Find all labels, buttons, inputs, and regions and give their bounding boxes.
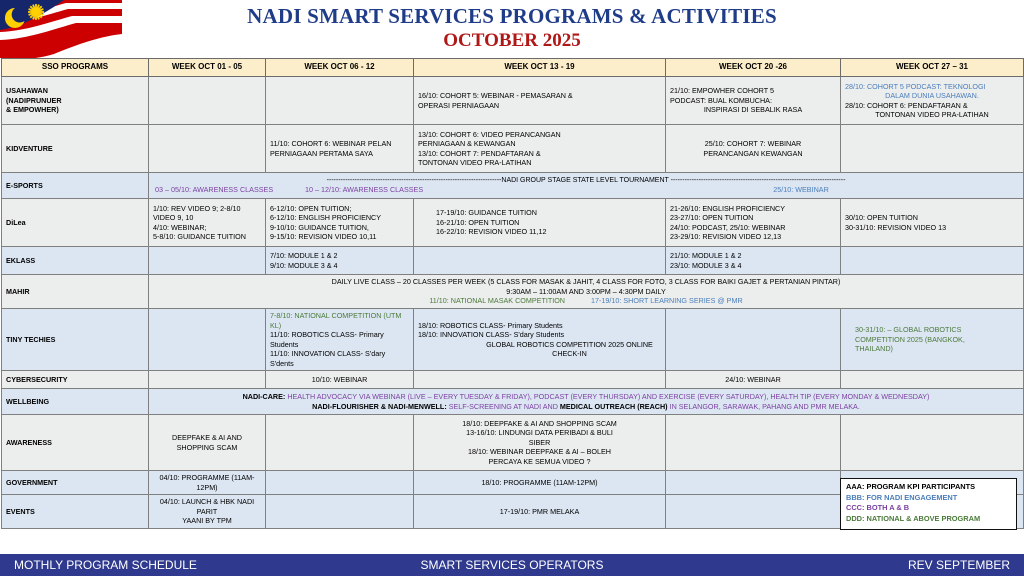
cell-tiny-w1 — [149, 309, 266, 371]
cell-tiny-w4 — [666, 309, 841, 371]
table-row-kidventure: KIDVENTURE 11/10: COHORT 6: WEBINAR PELA… — [2, 125, 1024, 173]
page-title: NADI SMART SERVICES PROGRAMS & ACTIVITIE… — [247, 5, 777, 28]
row-label-eklass: EKLASS — [2, 247, 149, 275]
table-header-row: SSO PROGRAMS WEEK OCT 01 - 05 WEEK OCT 0… — [2, 59, 1024, 77]
cell-gov-w1: 04/10: PROGRAMME (11AM-12PM) — [149, 471, 266, 495]
legend-item-bbb: BBB: FOR NADI ENGAGEMENT — [846, 493, 1011, 504]
cell-awareness-w1: DEEPFAKE & AI AND SHOPPING SCAM — [149, 415, 266, 471]
cell-eklass-w5 — [841, 247, 1024, 275]
cell-kidventure-w1 — [149, 125, 266, 173]
table-row-tiny-techies: TINY TECHIES 7-8/10: NATIONAL COMPETITIO… — [2, 309, 1024, 371]
cell-awareness-w3: 18/10: DEEPFAKE & AI AND SHOPPING SCAM 1… — [414, 415, 666, 471]
cell-gov-w3: 18/10: PROGRAMME (11AM-12PM) — [414, 471, 666, 495]
page-footer: MOTHLY PROGRAM SCHEDULE SMART SERVICES O… — [0, 554, 1024, 576]
row-label-tiny-techies: TINY TECHIES — [2, 309, 149, 371]
legend-box: AAA: PROGRAM KPI PARTICIPANTS BBB: FOR N… — [840, 478, 1017, 530]
mahir-line-3a: 11/10: NATIONAL MASAK COMPETITION — [429, 296, 565, 305]
cell-usahawan-w5: 28/10: COHORT 5 PODCAST: TEKNOLOGI DALAM… — [841, 77, 1024, 125]
cell-usahawan-w3: 16/10: COHORT 5: WEBINAR - PEMASARAN & O… — [414, 77, 666, 125]
esports-banner: ----------------------------------------… — [155, 176, 1017, 185]
cell-kidventure-w5 — [841, 125, 1024, 173]
wellbeing-text-3: IN SELANGOR, SARAWAK, PAHANG AND PMR MEL… — [670, 402, 860, 411]
cell-usahawan-w1 — [149, 77, 266, 125]
cell-cyber-w3 — [414, 371, 666, 389]
cell-cyber-w2: 10/10: WEBINAR — [266, 371, 414, 389]
row-label-mahir: MAHIR — [2, 275, 149, 309]
cell-dilea-w5: 30/10: OPEN TUITION 30-31/10: REVISION V… — [841, 199, 1024, 247]
cell-kidventure-w3: 13/10: COHORT 6: VIDEO PERANCANGAN PERNI… — [414, 125, 666, 173]
cell-events-w4 — [666, 495, 841, 529]
table-row-usahawan: USAHAWAN (NADIPRUNUER & EMPOWHER) 16/10:… — [2, 77, 1024, 125]
cell-eklass-w2: 7/10: MODULE 1 & 2 9/10: MODULE 3 & 4 — [266, 247, 414, 275]
schedule-table: SSO PROGRAMS WEEK OCT 01 - 05 WEEK OCT 0… — [1, 58, 1024, 529]
cell-events-w2 — [266, 495, 414, 529]
cell-events-w1: 04/10: LAUNCH & HBK NADI PARIT YAANI BY … — [149, 495, 266, 529]
mahir-line-1: DAILY LIVE CLASS – 20 CLASSES PER WEEK (… — [153, 277, 1019, 287]
cell-tiny-w3: 18/10: ROBOTICS CLASS- Primary Students … — [414, 309, 666, 371]
footer-middle: SMART SERVICES OPERATORS — [0, 558, 1024, 572]
legend-item-aaa: AAA: PROGRAM KPI PARTICIPANTS — [846, 482, 1011, 493]
cell-eklass-w4: 21/10: MODULE 1 & 2 23/10: MODULE 3 & 4 — [666, 247, 841, 275]
mahir-line-3b: 17-19/10: SHORT LEARNING SERIES @ PMR — [591, 296, 743, 305]
legend-item-ccc: CCC: BOTH A & B — [846, 503, 1011, 514]
page-header: NADI SMART SERVICES PROGRAMS & ACTIVITIE… — [0, 0, 1024, 58]
cell-events-w3: 17-19/10: PMR MELAKA — [414, 495, 666, 529]
cell-tiny-w5: 30-31/10: – GLOBAL ROBOTICS COMPETITION … — [841, 309, 1024, 371]
table-row-awareness: AWARENESS DEEPFAKE & AI AND SHOPPING SCA… — [2, 415, 1024, 471]
cell-cyber-w5 — [841, 371, 1024, 389]
column-header-week2: WEEK OCT 06 - 12 — [266, 59, 414, 77]
wellbeing-text-1: HEALTH ADVOCACY VIA WEBINAR (LIVE – EVER… — [287, 392, 929, 401]
cell-tiny-w2: 7-8/10: NATIONAL COMPETITION (UTM KL) 11… — [266, 309, 414, 371]
cell-dilea-w1: 1/10: REV VIDEO 9; 2-8/10 VIDEO 9, 10 4/… — [149, 199, 266, 247]
row-label-cybersecurity: CYBERSECURITY — [2, 371, 149, 389]
table-row-esports: E-SPORTS -------------------------------… — [2, 173, 1024, 199]
cell-usahawan-w4: 21/10: EMPOWHER COHORT 5 PODCAST: BUAL K… — [666, 77, 841, 125]
esports-item-2: 10 – 12/10: AWARENESS CLASSES — [305, 185, 585, 195]
legend-item-ddd: DDD: NATIONAL & ABOVE PROGRAM — [846, 514, 1011, 525]
wellbeing-text-2: SELF-SCREENING AT NADI AND — [449, 402, 558, 411]
cell-dilea-w4: 21-26/10: ENGLISH PROFICIENCY 23-27/10: … — [666, 199, 841, 247]
cell-awareness-w4 — [666, 415, 841, 471]
cell-eklass-w1 — [149, 247, 266, 275]
table-row-mahir: MAHIR DAILY LIVE CLASS – 20 CLASSES PER … — [2, 275, 1024, 309]
column-header-week3: WEEK OCT 13 - 19 — [414, 59, 666, 77]
cell-gov-w2 — [266, 471, 414, 495]
row-label-government: GOVERNMENT — [2, 471, 149, 495]
cell-mahir-span: DAILY LIVE CLASS – 20 CLASSES PER WEEK (… — [149, 275, 1024, 309]
cell-dilea-w2: 6-12/10: OPEN TUITION; 6-12/10: ENGLISH … — [266, 199, 414, 247]
row-label-awareness: AWARENESS — [2, 415, 149, 471]
wellbeing-label-1: NADI-CARE: — [243, 392, 286, 401]
cell-awareness-w2 — [266, 415, 414, 471]
wellbeing-label-3: MEDICAL OUTREACH (REACH) — [560, 402, 668, 411]
cell-cyber-w4: 24/10: WEBINAR — [666, 371, 841, 389]
schedule-poster: NADI SMART SERVICES PROGRAMS & ACTIVITIE… — [0, 0, 1024, 576]
wellbeing-label-2: NADI-FLOURISHER & NADI-MENWELL: — [312, 402, 447, 411]
mahir-line-2: 9:30AM – 11:00AM AND 3:00PM – 4:30PM DAI… — [153, 287, 1019, 297]
cell-usahawan-w2 — [266, 77, 414, 125]
column-header-week1: WEEK OCT 01 - 05 — [149, 59, 266, 77]
row-label-usahawan: USAHAWAN (NADIPRUNUER & EMPOWHER) — [2, 77, 149, 125]
table-row-dilea: DiLea 1/10: REV VIDEO 9; 2-8/10 VIDEO 9,… — [2, 199, 1024, 247]
cell-wellbeing-span: NADI-CARE: HEALTH ADVOCACY VIA WEBINAR (… — [149, 389, 1024, 415]
table-row-eklass: EKLASS 7/10: MODULE 1 & 2 9/10: MODULE 3… — [2, 247, 1024, 275]
cell-kidventure-w2: 11/10: COHORT 6: WEBINAR PELAN PERNIAGAA… — [266, 125, 414, 173]
column-header-week4: WEEK OCT 20 -26 — [666, 59, 841, 77]
cell-awareness-w5 — [841, 415, 1024, 471]
cell-eklass-w3 — [414, 247, 666, 275]
cell-cyber-w1 — [149, 371, 266, 389]
esports-item-3: 25/10: WEBINAR — [585, 185, 1017, 195]
table-row-cybersecurity: CYBERSECURITY 10/10: WEBINAR 24/10: WEBI… — [2, 371, 1024, 389]
column-header-week5: WEEK OCT 27 – 31 — [841, 59, 1024, 77]
esports-item-1: 03 – 05/10: AWARENESS CLASSES — [155, 185, 305, 195]
row-label-wellbeing: WELLBEING — [2, 389, 149, 415]
row-label-esports: E-SPORTS — [2, 173, 149, 199]
row-label-kidventure: KIDVENTURE — [2, 125, 149, 173]
column-header-sso: SSO PROGRAMS — [2, 59, 149, 77]
page-subtitle: OCTOBER 2025 — [443, 30, 580, 53]
cell-dilea-w3: 17-19/10: GUIDANCE TUITION 16-21/10: OPE… — [414, 199, 666, 247]
row-label-dilea: DiLea — [2, 199, 149, 247]
table-row-wellbeing: WELLBEING NADI-CARE: HEALTH ADVOCACY VIA… — [2, 389, 1024, 415]
cell-esports-span: ----------------------------------------… — [149, 173, 1024, 199]
cell-kidventure-w4: 25/10: COHORT 7: WEBINAR PERANCANGAN KEW… — [666, 125, 841, 173]
row-label-events: EVENTS — [2, 495, 149, 529]
cell-gov-w4 — [666, 471, 841, 495]
footer-right: REV SEPTEMBER — [908, 558, 1010, 572]
